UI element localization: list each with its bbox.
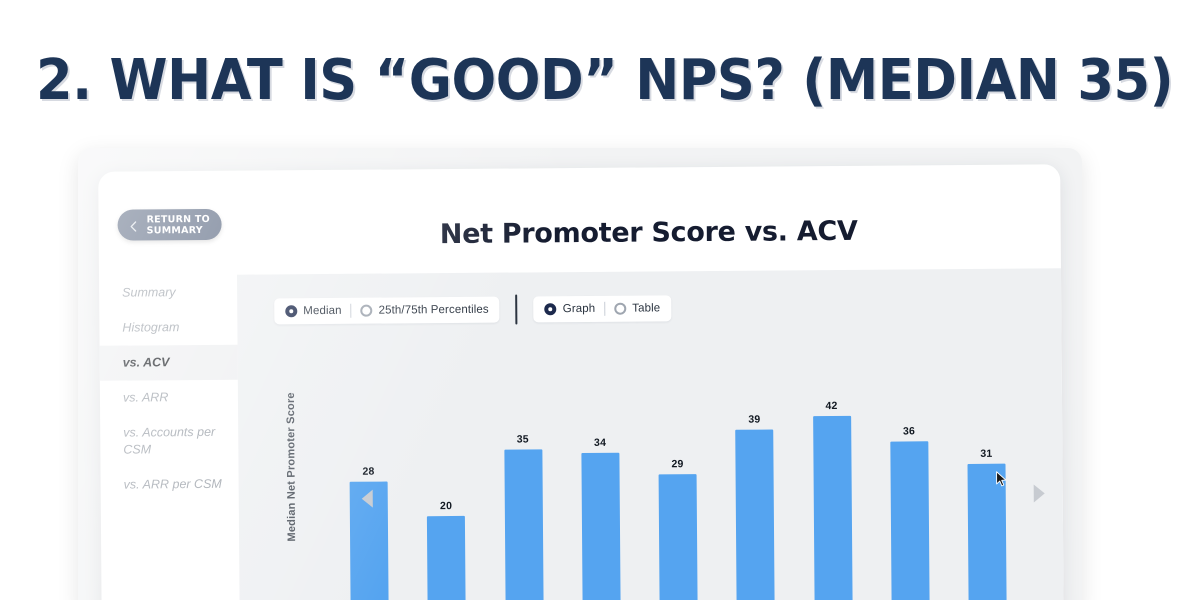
bar-value-label: 36 — [903, 425, 915, 437]
chart-title: Net Promoter Score vs. ACV — [237, 214, 1061, 251]
triangle-left-icon[interactable] — [362, 490, 373, 508]
bar-group[interactable]: 36 — [873, 379, 947, 600]
chart-panel: Median 25th/75th Percentiles Graph — [237, 268, 1064, 600]
bar-value-label: 31 — [980, 448, 992, 460]
radio-percentiles[interactable]: 25th/75th Percentiles — [361, 304, 489, 317]
bar-value-label: 28 — [362, 466, 374, 478]
bar-value-label: 20 — [440, 500, 452, 512]
bar[interactable] — [504, 449, 543, 600]
chevron-left-icon — [128, 219, 140, 231]
bar-value-label: 39 — [748, 414, 760, 426]
triangle-right-icon[interactable] — [1034, 484, 1045, 502]
bar[interactable] — [659, 474, 698, 600]
return-to-summary-label: RETURN TO SUMMARY — [147, 213, 211, 235]
bar-value-label: 35 — [517, 433, 529, 445]
radio-graph-label: Graph — [563, 303, 596, 315]
radio-selected-icon — [545, 303, 557, 315]
bar[interactable] — [427, 516, 466, 600]
control-divider — [604, 302, 605, 316]
radio-median-label: Median — [303, 305, 341, 317]
radio-selected-icon — [285, 305, 297, 317]
bar-group[interactable]: 39 — [718, 380, 792, 600]
view-radio-group: Graph Table — [534, 295, 672, 322]
sidebar-nav: Summary Histogram vs. ACV vs. ARR vs. Ac… — [99, 275, 239, 515]
radio-table[interactable]: Table — [614, 302, 660, 314]
sidebar-item-vs-arr-per-csm[interactable]: vs. ARR per CSM — [101, 467, 239, 503]
bar-group[interactable]: 31 — [950, 379, 1024, 600]
sidebar-item-label: vs. ACV — [123, 355, 170, 369]
bar[interactable] — [967, 464, 1006, 600]
bar[interactable] — [890, 441, 929, 600]
y-axis-label: Median Net Promoter Score — [285, 392, 298, 541]
sidebar-item-vs-accounts-per-csm[interactable]: vs. Accounts per CSM — [100, 415, 238, 468]
bar[interactable] — [735, 429, 774, 600]
app-window: RETURN TO SUMMARY Summary Histogram vs. … — [98, 164, 1064, 600]
sidebar-item-label: vs. Accounts per CSM — [123, 425, 215, 457]
bar-value-label: 29 — [671, 458, 683, 470]
bar-group[interactable]: 42 — [795, 380, 869, 600]
control-group-divider — [516, 294, 518, 324]
bar-value-label: 42 — [825, 400, 837, 412]
sidebar-item-label: Histogram — [122, 320, 179, 334]
radio-unselected-icon — [614, 303, 626, 315]
bar-group[interactable]: 34 — [564, 382, 638, 600]
sidebar-item-label: vs. ARR per CSM — [124, 477, 222, 492]
sidebar-item-label: Summary — [122, 285, 176, 299]
bar-group[interactable]: 20 — [409, 383, 483, 600]
radio-percentiles-label: 25th/75th Percentiles — [379, 304, 489, 317]
sidebar-item-summary[interactable]: Summary — [99, 275, 237, 311]
radio-unselected-icon — [361, 305, 373, 317]
bar[interactable] — [581, 453, 620, 600]
bar-series: 282035342939423631 — [332, 379, 1024, 600]
sidebar-item-vs-acv[interactable]: vs. ACV — [100, 345, 238, 381]
page-title: 2. WHAT IS “GOOD” NPS? (MEDIAN 35) — [36, 48, 1164, 113]
metric-radio-group: Median 25th/75th Percentiles — [274, 297, 500, 325]
return-to-summary-button[interactable]: RETURN TO SUMMARY — [117, 209, 222, 241]
radio-median[interactable]: Median — [285, 305, 341, 317]
chart-controls: Median 25th/75th Percentiles Graph — [274, 293, 671, 326]
sidebar-item-vs-arr[interactable]: vs. ARR — [100, 380, 238, 416]
bar-value-label: 34 — [594, 437, 606, 449]
bar[interactable] — [813, 416, 852, 600]
bar-chart-plot: 282035342939423631 $0k-$5k$5k-$10k$10k-$… — [332, 347, 1024, 600]
sidebar-item-label: vs. ARR — [123, 390, 168, 404]
slide-canvas: 2. WHAT IS “GOOD” NPS? (MEDIAN 35) RETUR… — [0, 0, 1200, 600]
bar-group[interactable]: 35 — [486, 382, 560, 600]
radio-graph[interactable]: Graph — [545, 303, 596, 315]
control-divider — [351, 304, 352, 318]
sidebar-item-histogram[interactable]: Histogram — [99, 310, 237, 346]
radio-table-label: Table — [632, 302, 660, 314]
bar-group[interactable]: 29 — [641, 381, 715, 600]
screenshot-frame: RETURN TO SUMMARY Summary Histogram vs. … — [78, 148, 1082, 600]
